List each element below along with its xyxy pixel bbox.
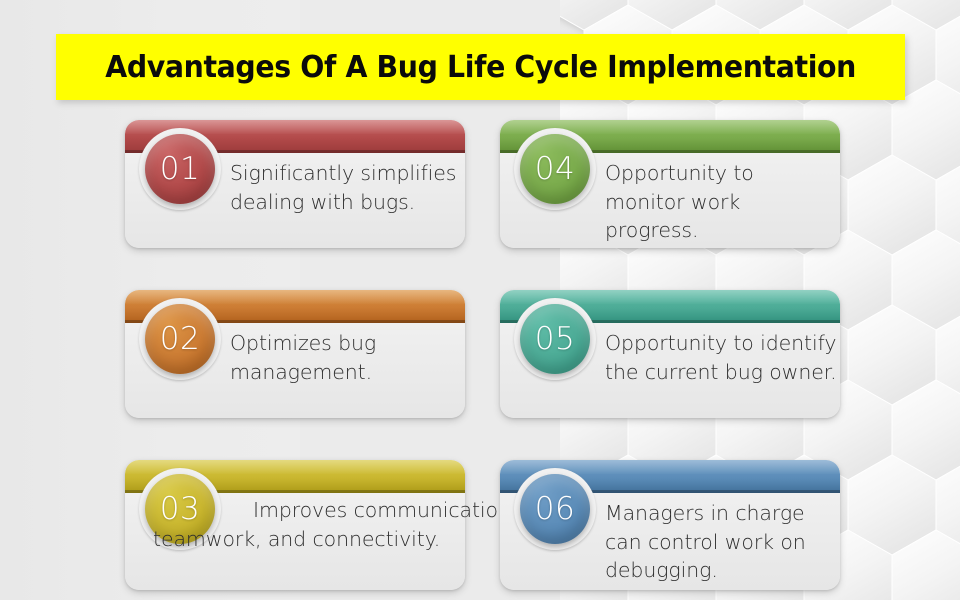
badge-number-06: 06 (535, 494, 575, 525)
advantage-card-06[interactable]: 06 Managers in charge can control work o… (500, 460, 840, 590)
badge-circle-04: 04 (520, 134, 590, 204)
badge-circle-05: 05 (520, 304, 590, 374)
badge-number-05: 05 (535, 324, 575, 355)
card-text-06: Managers in charge can control work on d… (605, 499, 837, 585)
card-text-02: Optimizes bug management. (230, 329, 462, 386)
advantage-card-02[interactable]: 02 Optimizes bug management. (125, 290, 465, 418)
badge-circle-02: 02 (145, 304, 215, 374)
cards-grid: 01 Significantly simplifies dealing with… (0, 0, 960, 600)
infographic-poster: Advantages Of A Bug Life Cycle Implement… (0, 0, 960, 600)
advantage-card-03[interactable]: 03 Improves communication, teamwork, and… (125, 460, 465, 590)
advantage-card-05[interactable]: 05 Opportunity to identify the current b… (500, 290, 840, 418)
badge-circle-06: 06 (520, 474, 590, 544)
badge-number-04: 04 (535, 154, 575, 185)
card-text-01: Significantly simplifies dealing with bu… (230, 159, 462, 216)
badge-number-02: 02 (160, 324, 200, 355)
card-text-05: Opportunity to identify the current bug … (605, 329, 837, 386)
badge-circle-01: 01 (145, 134, 215, 204)
advantage-card-01[interactable]: 01 Significantly simplifies dealing with… (125, 120, 465, 248)
card-text-04: Opportunity to monitor work progress. (605, 159, 837, 245)
badge-number-01: 01 (160, 154, 200, 185)
advantage-card-04[interactable]: 04 Opportunity to monitor work progress. (500, 120, 840, 248)
